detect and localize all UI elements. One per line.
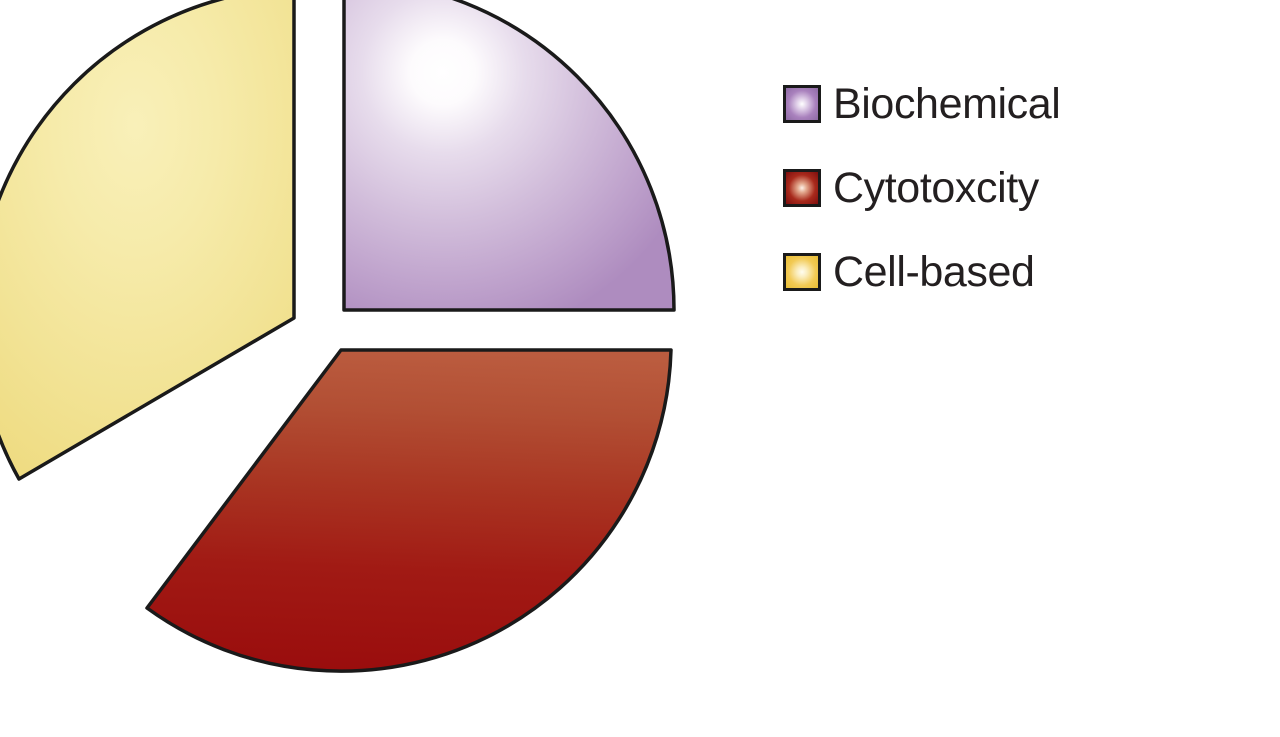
legend-swatch-cell-based — [783, 253, 821, 291]
pie-slice-cytotoxcity[interactable] — [147, 350, 671, 671]
legend-label-cell-based: Cell-based — [833, 251, 1035, 294]
legend-item-biochemical[interactable]: Biochemical — [783, 62, 1203, 146]
legend-swatch-biochemical — [783, 85, 821, 123]
pie-slice-biochemical[interactable] — [344, 0, 674, 310]
legend-item-cell-based[interactable]: Cell-based — [783, 230, 1203, 314]
legend-label-biochemical: Biochemical — [833, 83, 1060, 126]
legend-item-cytotoxcity[interactable]: Cytotoxcity — [783, 146, 1203, 230]
pie-slice-cell-based[interactable] — [0, 0, 294, 479]
chart-legend: Biochemical Cytotoxcity Cell-based — [783, 62, 1203, 314]
legend-label-cytotoxcity: Cytotoxcity — [833, 167, 1039, 210]
pie-chart-figure: Biochemical Cytotoxcity Cell-based — [0, 0, 1280, 737]
legend-swatch-cytotoxcity — [783, 169, 821, 207]
